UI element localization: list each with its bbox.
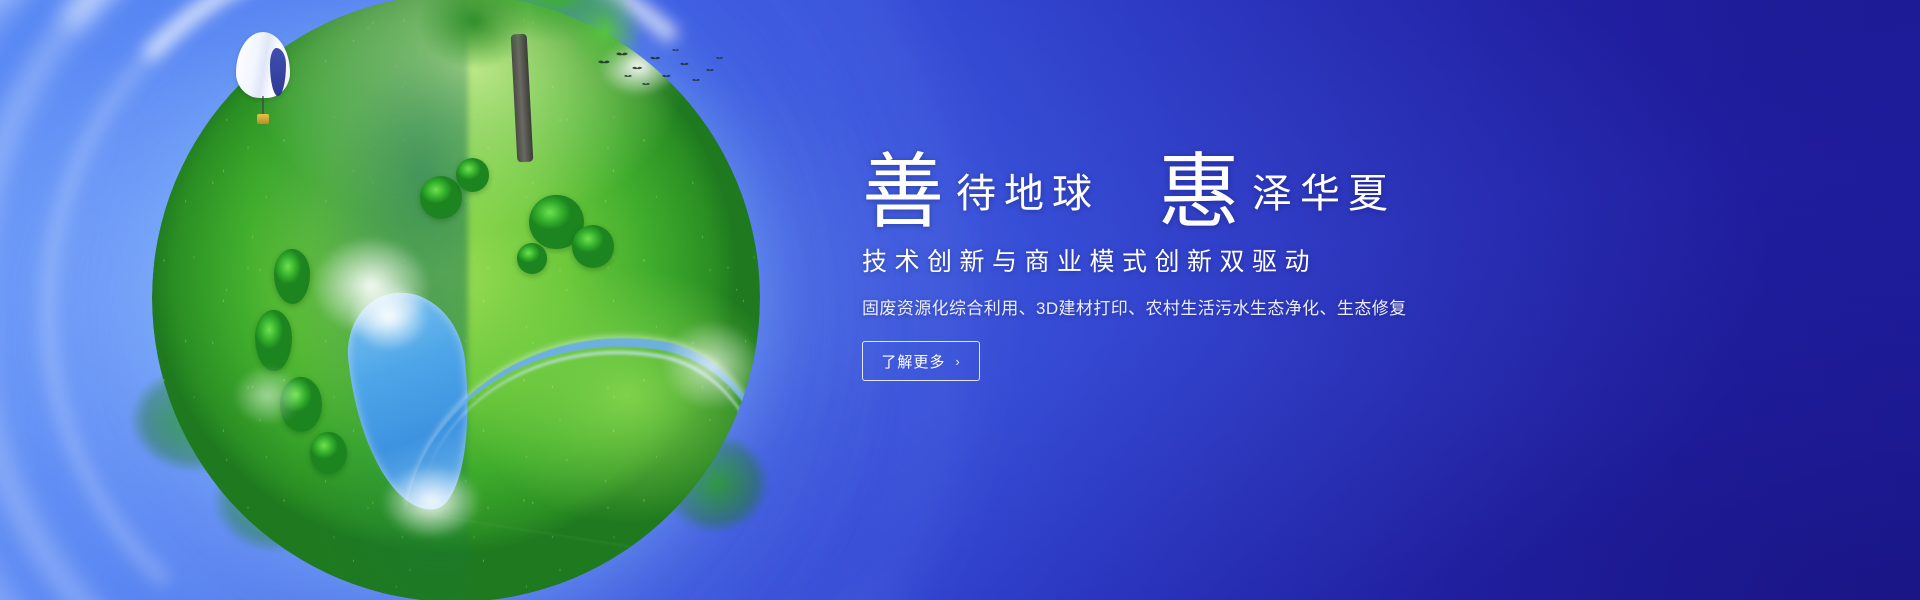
headline-phrase-1: 善 待地球 [862,153,1100,228]
hero-description: 固废资源化综合利用、3D建材打印、农村生活污水生态净化、生态修复 [862,294,1562,319]
hot-air-balloon-icon [236,32,290,128]
tree-blob [310,432,346,475]
headline-1-big: 善 [862,155,944,230]
hero-banner: 善 待地球 惠 泽华夏 技术创新与商业模式创新双驱动 固废资源化综合利用、3D建… [0,0,1920,600]
learn-more-label: 了解更多 [881,351,945,372]
balloon-basket [257,114,269,124]
headline-2-big: 惠 [1158,155,1240,230]
chevron-right-icon: › [955,354,960,369]
hero-copy: 善 待地球 惠 泽华夏 技术创新与商业模式创新双驱动 固废资源化综合利用、3D建… [862,120,1562,381]
tree-blob [456,158,489,191]
bird-flock-icon [592,46,732,96]
learn-more-button[interactable]: 了解更多 › [862,341,980,381]
headline-phrase-2: 惠 泽华夏 [1158,153,1396,228]
headline-2-rest: 泽华夏 [1252,174,1396,214]
tree-blob [420,176,463,219]
cloud-puff [371,456,493,547]
headline-1-rest: 待地球 [956,174,1100,214]
page-title: 善 待地球 惠 泽华夏 [862,120,1562,228]
balloon-rope [262,96,264,116]
cloud-puff [340,274,437,359]
cloud-puff [225,359,310,432]
tree-blob [517,243,547,273]
tree-blob [572,225,615,268]
hero-subtitle: 技术创新与商业模式创新双驱动 [862,242,1562,278]
cloud-puff [651,310,760,419]
